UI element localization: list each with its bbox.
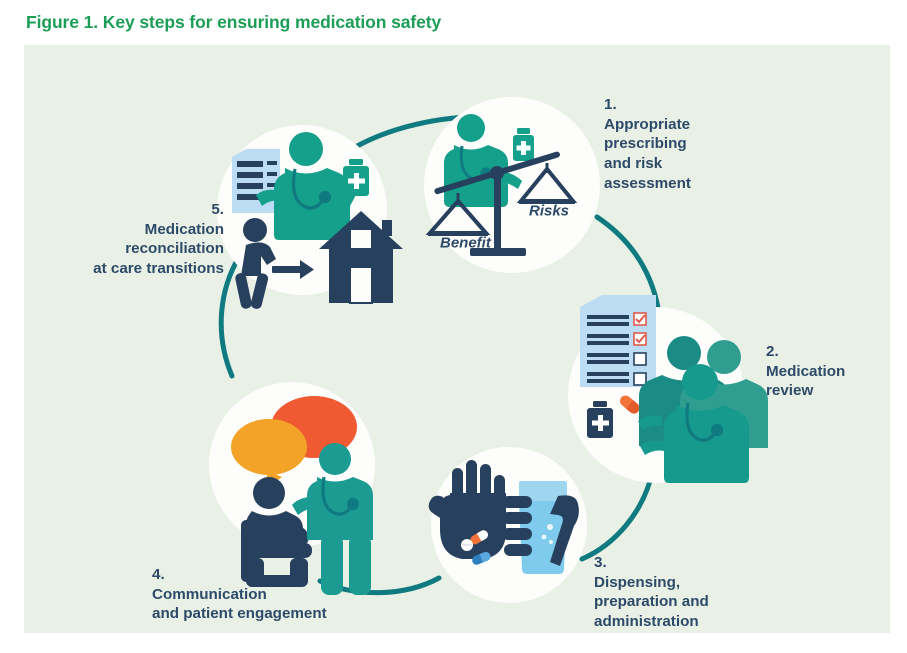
step-1-text: Appropriate prescribing and risk assessm…: [604, 116, 691, 192]
step-1-label: 1.Appropriate prescribing and risk asses…: [604, 75, 691, 194]
step-5-illustration: [217, 125, 403, 310]
scale-label-benefit: Benefit: [440, 234, 492, 251]
step-3-number: 3.: [594, 553, 709, 573]
step-3-text: Dispensing, preparation and administrati…: [594, 574, 709, 631]
step-5-label: 5.Medication reconciliation at care tran…: [24, 180, 224, 279]
figure-panel: Benefit Risks: [24, 45, 890, 633]
step-4-text: Communication and patient engagement: [152, 586, 327, 623]
step-4-label: 4.Communication and patient engagement: [152, 545, 327, 624]
step-1-number: 1.: [604, 95, 691, 115]
medication-list-document-icon: [232, 149, 280, 213]
step-5-text: Medication reconciliation at care transi…: [93, 221, 224, 278]
step-2-text: Medication review: [766, 363, 845, 400]
step-2-illustration: [568, 295, 768, 483]
step-2-label: 2.Medication review: [766, 322, 845, 401]
step-3-label: 3.Dispensing, preparation and administra…: [594, 533, 709, 632]
figure-title: Figure 1. Key steps for ensuring medicat…: [26, 12, 441, 33]
step-4-number: 4.: [152, 565, 327, 585]
scale-label-risks: Risks: [529, 202, 569, 219]
step-5-number: 5.: [24, 200, 224, 220]
clipboard-checklist-icon: [580, 295, 656, 387]
figure-root: Figure 1. Key steps for ensuring medicat…: [0, 0, 907, 653]
step-1-illustration: Benefit Risks: [424, 97, 600, 273]
step-3-illustration: [429, 447, 587, 603]
step-2-number: 2.: [766, 342, 845, 362]
